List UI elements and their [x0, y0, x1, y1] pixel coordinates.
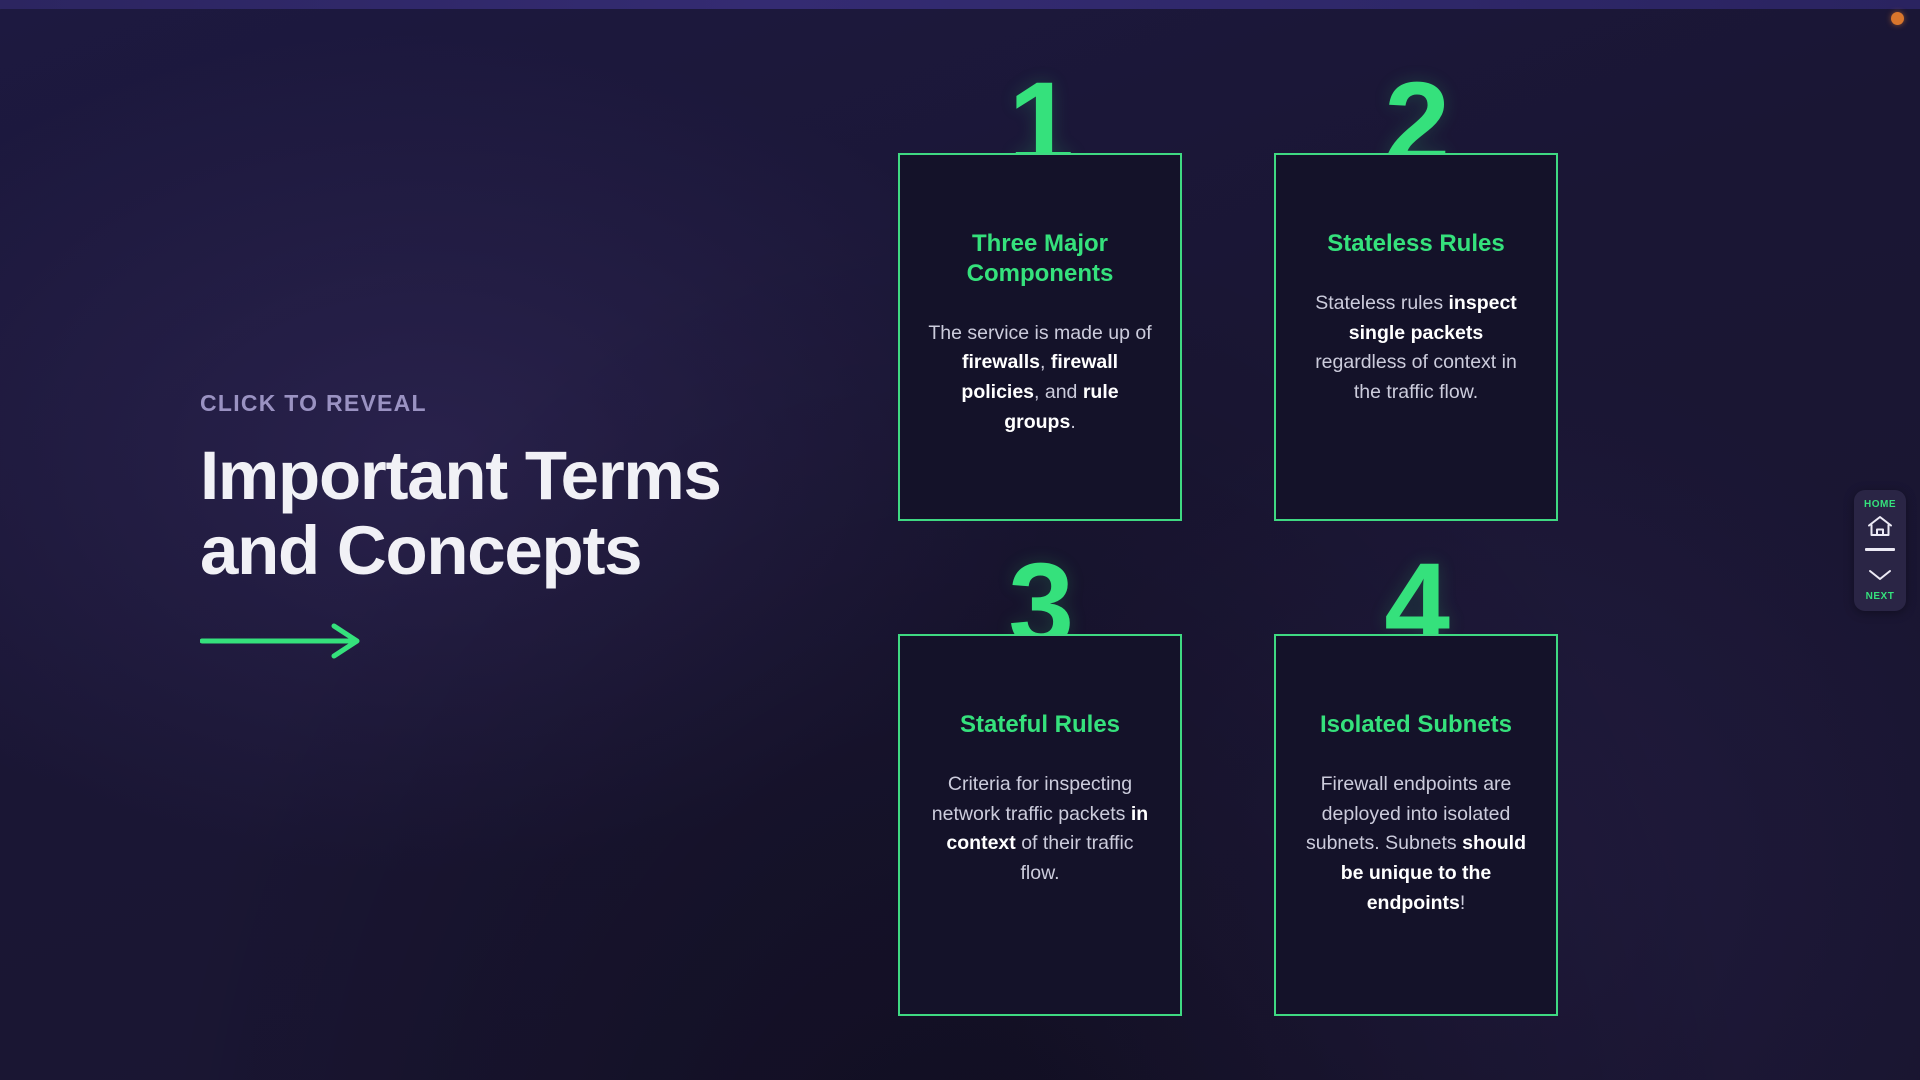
home-label: HOME	[1864, 499, 1896, 510]
card-title-4: Isolated Subnets	[1302, 710, 1530, 740]
concept-card-3[interactable]: Stateful Rules Criteria for inspecting n…	[898, 634, 1182, 1016]
card-slot-3: 3 Stateful Rules Criteria for inspecting…	[898, 559, 1182, 1016]
card-body-2: Stateless rules inspect single packets r…	[1302, 289, 1530, 408]
card-row-bottom: 3 Stateful Rules Criteria for inspecting…	[898, 559, 1558, 1016]
slide-nav-widget: HOME NEXT	[1854, 490, 1906, 611]
click-to-reveal-eyebrow: CLICK TO REVEAL	[200, 390, 840, 417]
concept-card-1[interactable]: Three Major Components The service is ma…	[898, 153, 1182, 521]
card-row-top: 1 Three Major Components The service is …	[898, 78, 1558, 521]
card-title-1: Three Major Components	[926, 229, 1154, 289]
page-title: Important Terms and Concepts	[200, 439, 840, 588]
card-title-3: Stateful Rules	[926, 710, 1154, 740]
intro-panel: CLICK TO REVEAL Important Terms and Conc…	[200, 390, 840, 660]
top-accent-strip	[0, 0, 1920, 9]
page-title-line-2: and Concepts	[200, 514, 840, 589]
chevron-down-icon[interactable]	[1858, 562, 1902, 588]
home-icon[interactable]	[1858, 513, 1902, 539]
concept-card-4[interactable]: Isolated Subnets Firewall endpoints are …	[1274, 634, 1558, 1016]
slide-canvas: CLICK TO REVEAL Important Terms and Conc…	[0, 0, 1920, 1080]
arrow-right-icon[interactable]	[200, 622, 365, 660]
card-body-1: The service is made up of firewalls, fir…	[926, 319, 1154, 438]
next-label: NEXT	[1866, 591, 1895, 602]
divider	[1865, 548, 1895, 551]
card-slot-1: 1 Three Major Components The service is …	[898, 78, 1182, 521]
card-body-3: Criteria for inspecting network traffic …	[926, 770, 1154, 889]
concept-cards-grid: 1 Three Major Components The service is …	[898, 78, 1558, 1054]
page-title-line-1: Important Terms	[200, 439, 840, 514]
status-dot-icon	[1891, 12, 1904, 25]
card-slot-2: 2 Stateless Rules Stateless rules inspec…	[1274, 78, 1558, 521]
card-title-2: Stateless Rules	[1302, 229, 1530, 259]
concept-card-2[interactable]: Stateless Rules Stateless rules inspect …	[1274, 153, 1558, 521]
card-slot-4: 4 Isolated Subnets Firewall endpoints ar…	[1274, 559, 1558, 1016]
card-body-4: Firewall endpoints are deployed into iso…	[1302, 770, 1530, 919]
